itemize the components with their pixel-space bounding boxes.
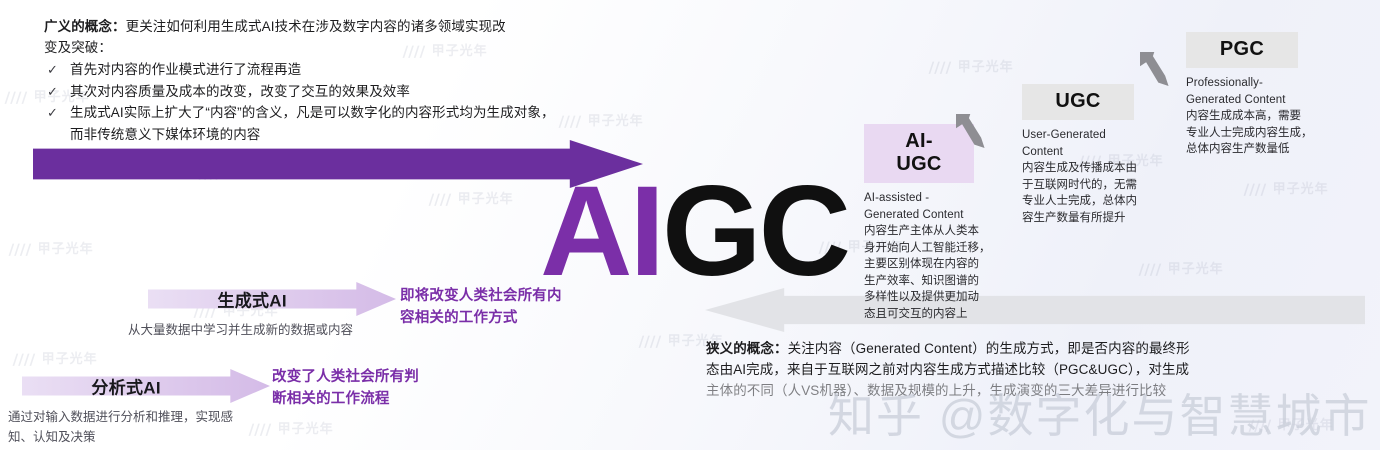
card-ai-ugc: AI-UGC AI-assisted - Generated Content 内…: [864, 124, 992, 322]
callout-line: 断相关的工作流程: [272, 388, 487, 410]
generative-ai-arrow: 生成式AI: [148, 282, 396, 316]
card-body-line: 身开始向人工智能迁移，: [864, 240, 992, 257]
card-body-line: 多样性以及提供更加动: [864, 289, 992, 306]
card-body-line: 专业人士完成，总体内: [1022, 193, 1154, 210]
brand-watermark: ||||甲子光年: [14, 348, 98, 367]
card-body-pgc: Professionally- Generated Content 内容生成成本…: [1186, 75, 1318, 158]
infographic-slide: ||||甲子光年 ||||甲子光年 ||||甲子光年 ||||甲子光年 ||||…: [0, 0, 1380, 450]
list-item: ✓ 生成式AI实际上扩大了“内容”的含义，凡是可以数字化的内容形式均为生成对象，: [44, 102, 644, 124]
title-gc-part: GC: [662, 160, 848, 303]
brand-watermark: ||||甲子光年: [430, 188, 514, 207]
generative-ai-caption: 从大量数据中学习并生成新的数据或内容: [128, 320, 428, 340]
brand-watermark: ||||甲子光年: [1140, 258, 1224, 277]
card-chip-ai-ugc: AI-UGC: [864, 124, 974, 183]
card-pgc: PGC Professionally- Generated Content 内容…: [1186, 32, 1318, 158]
narrow-concept-line3: 主体的不同（人VS机器）、数据及规模的上升，生成演变的三大差异进行比较: [706, 380, 1366, 401]
card-body-line: 专业人士完成内容生成，: [1186, 125, 1318, 142]
card-chip-ugc: UGC: [1022, 84, 1134, 120]
card-body-line: User-Generated: [1022, 127, 1154, 144]
card-body-line: AI-assisted -: [864, 190, 992, 207]
card-body-line: 内容生成成本高，需要: [1186, 108, 1318, 125]
card-body-line: 内容生产主体从人类本: [864, 223, 992, 240]
analytical-ai-arrow-label: 分析式AI: [22, 374, 230, 399]
check-icon: ✓: [44, 102, 70, 124]
card-body-line: 总体内容生产数量低: [1186, 141, 1318, 158]
arrow-up-right-icon: [1140, 52, 1174, 86]
analytical-ai-callout: 改变了人类社会所有判 断相关的工作流程: [272, 366, 487, 410]
card-body-line: Generated Content: [1186, 92, 1318, 109]
generative-ai-arrow-label: 生成式AI: [148, 287, 356, 312]
analytical-ai-arrow: 分析式AI: [22, 369, 270, 403]
narrow-concept-line2: 态由AI完成，来自于互联网之前对内容生成方式描述比较（PGC&UGC），对生成: [706, 359, 1366, 380]
narrow-concept-line1: 关注内容（Generated Content）的生成方式，即是否内容的最终形: [788, 341, 1190, 356]
card-body-line: 容生产数量有所提升: [1022, 210, 1154, 227]
list-item: ✓ 首先对内容的作业模式进行了流程再造: [44, 59, 644, 81]
card-body-line: Generated Content: [864, 207, 992, 224]
brand-watermark: ||||甲子光年: [1250, 414, 1334, 433]
list-item: 而非传统意义下媒体环境的内容: [44, 124, 644, 146]
brand-watermark: ||||甲子光年: [930, 56, 1014, 75]
check-icon: ✓: [44, 59, 70, 81]
card-body-line: Professionally-: [1186, 75, 1318, 92]
callout-line: 即将改变人类社会所有内: [400, 285, 610, 307]
card-body-line: Content: [1022, 144, 1154, 161]
narrow-concept-block: 狭义的概念：关注内容（Generated Content）的生成方式，即是否内容…: [706, 338, 1366, 401]
card-body-line: 于互联网时代的，无需: [1022, 177, 1154, 194]
card-body-line: 内容生成及传播成本由: [1022, 160, 1154, 177]
callout-line: 改变了人类社会所有判: [272, 366, 487, 388]
caption-line: 知、认知及决策: [8, 427, 318, 447]
list-item-label: 生成式AI实际上扩大了“内容”的含义，凡是可以数字化的内容形式均为生成对象，: [70, 102, 555, 124]
list-item: ✓ 其次对内容质量及成本的改变，改变了交互的效果及效率: [44, 81, 644, 103]
broad-concept-lead: 更关注如何利用生成式AI技术在涉及数字内容的诸多领域实现改: [126, 19, 506, 34]
title-ai-part: AI: [540, 160, 662, 303]
broad-concept-label: 广义的概念：: [44, 19, 126, 34]
broad-concept-lead2: 变及突破：: [44, 37, 644, 58]
narrow-concept-line: 狭义的概念：关注内容（Generated Content）的生成方式，即是否内容…: [706, 338, 1366, 359]
list-item-label: 其次对内容质量及成本的改变，改变了交互的效果及效率: [70, 81, 410, 103]
card-body-line: 主要区别体现在内容的: [864, 256, 992, 273]
callout-line: 容相关的工作方式: [400, 307, 610, 329]
broad-concept-block: 广义的概念：更关注如何利用生成式AI技术在涉及数字内容的诸多领域实现改 变及突破…: [44, 16, 644, 145]
analytical-ai-caption: 通过对输入数据进行分析和推理，实现感 知、认知及决策: [8, 407, 318, 447]
caption-line: 通过对输入数据进行分析和推理，实现感: [8, 407, 318, 427]
brand-watermark: ||||甲子光年: [1245, 178, 1329, 197]
list-item-label: 而非传统意义下媒体环境的内容: [70, 124, 260, 146]
narrow-concept-label: 狭义的概念：: [706, 341, 788, 356]
list-item-label: 首先对内容的作业模式进行了流程再造: [70, 59, 301, 81]
brand-watermark: ||||甲子光年: [10, 238, 94, 257]
broad-concept-bullet-list: ✓ 首先对内容的作业模式进行了流程再造 ✓ 其次对内容质量及成本的改变，改变了交…: [44, 59, 644, 145]
card-chip-pgc: PGC: [1186, 32, 1298, 68]
card-ugc: UGC User-Generated Content 内容生成及传播成本由 于互…: [1022, 84, 1154, 226]
check-icon: ✓: [44, 81, 70, 103]
card-body-line: 生产效率、知识图谱的: [864, 273, 992, 290]
broad-concept-paragraph: 广义的概念：更关注如何利用生成式AI技术在涉及数字内容的诸多领域实现改: [44, 16, 644, 37]
page-title: AIGC: [540, 168, 848, 296]
card-body-line: 态且可交互的内容上: [864, 306, 992, 323]
card-body-ugc: User-Generated Content 内容生成及传播成本由 于互联网时代…: [1022, 127, 1154, 226]
card-body-ai-ugc: AI-assisted - Generated Content 内容生产主体从人…: [864, 190, 992, 322]
generative-ai-callout: 即将改变人类社会所有内 容相关的工作方式: [400, 285, 610, 329]
